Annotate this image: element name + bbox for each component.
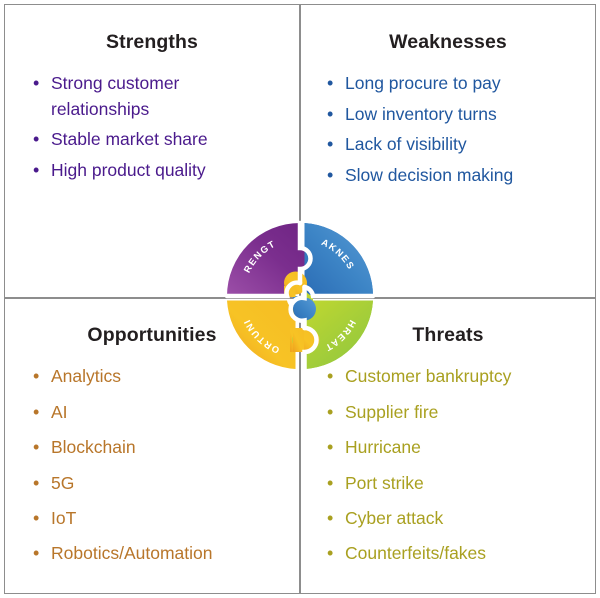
list-item: Strong customer relationships: [31, 71, 251, 122]
bullet-list-strengths: Strong customer relationships Stable mar…: [31, 71, 251, 183]
bullet-list-threats: Customer bankruptcy Supplier fire Hurric…: [325, 364, 585, 566]
list-item: 5G: [31, 471, 281, 496]
list-item: Slow decision making: [325, 163, 580, 188]
list-item: Analytics: [31, 364, 281, 389]
list-item: Supplier fire: [325, 400, 585, 425]
list-item: Long procure to pay: [325, 71, 580, 96]
list-item: AI: [31, 400, 281, 425]
quadrant-threats[interactable]: Threats Customer bankruptcy Supplier fir…: [300, 298, 596, 594]
quadrant-title-strengths: Strengths: [5, 32, 299, 53]
list-item: Lack of visibility: [325, 132, 580, 157]
list-item: Counterfeits/fakes: [325, 541, 585, 566]
quadrant-weaknesses[interactable]: Weaknesses Long procure to pay Low inven…: [300, 4, 596, 298]
list-item: IoT: [31, 506, 281, 531]
quadrant-title-threats: Threats: [301, 325, 595, 346]
list-item: High product quality: [31, 158, 251, 183]
quadrant-opportunities[interactable]: Opportunities Analytics AI Blockchain 5G…: [4, 298, 300, 594]
swot-quadrant-grid: Strengths Strong customer relationships …: [0, 0, 600, 598]
list-item: Port strike: [325, 471, 585, 496]
list-item: Robotics/Automation: [31, 541, 281, 566]
list-item: Stable market share: [31, 127, 251, 152]
list-item: Cyber attack: [325, 506, 585, 531]
list-item: Low inventory turns: [325, 102, 580, 127]
quadrant-title-opportunities: Opportunities: [5, 325, 299, 346]
list-item: Blockchain: [31, 435, 281, 460]
bullet-list-opportunities: Analytics AI Blockchain 5G IoT Robotics/…: [31, 364, 281, 566]
swot-diagram: Strengths Strong customer relationships …: [0, 0, 600, 598]
bullet-list-weaknesses: Long procure to pay Low inventory turns …: [325, 71, 580, 188]
quadrant-title-weaknesses: Weaknesses: [301, 32, 595, 53]
quadrant-strengths[interactable]: Strengths Strong customer relationships …: [4, 4, 300, 298]
list-item: Customer bankruptcy: [325, 364, 585, 389]
list-item: Hurricane: [325, 435, 585, 460]
